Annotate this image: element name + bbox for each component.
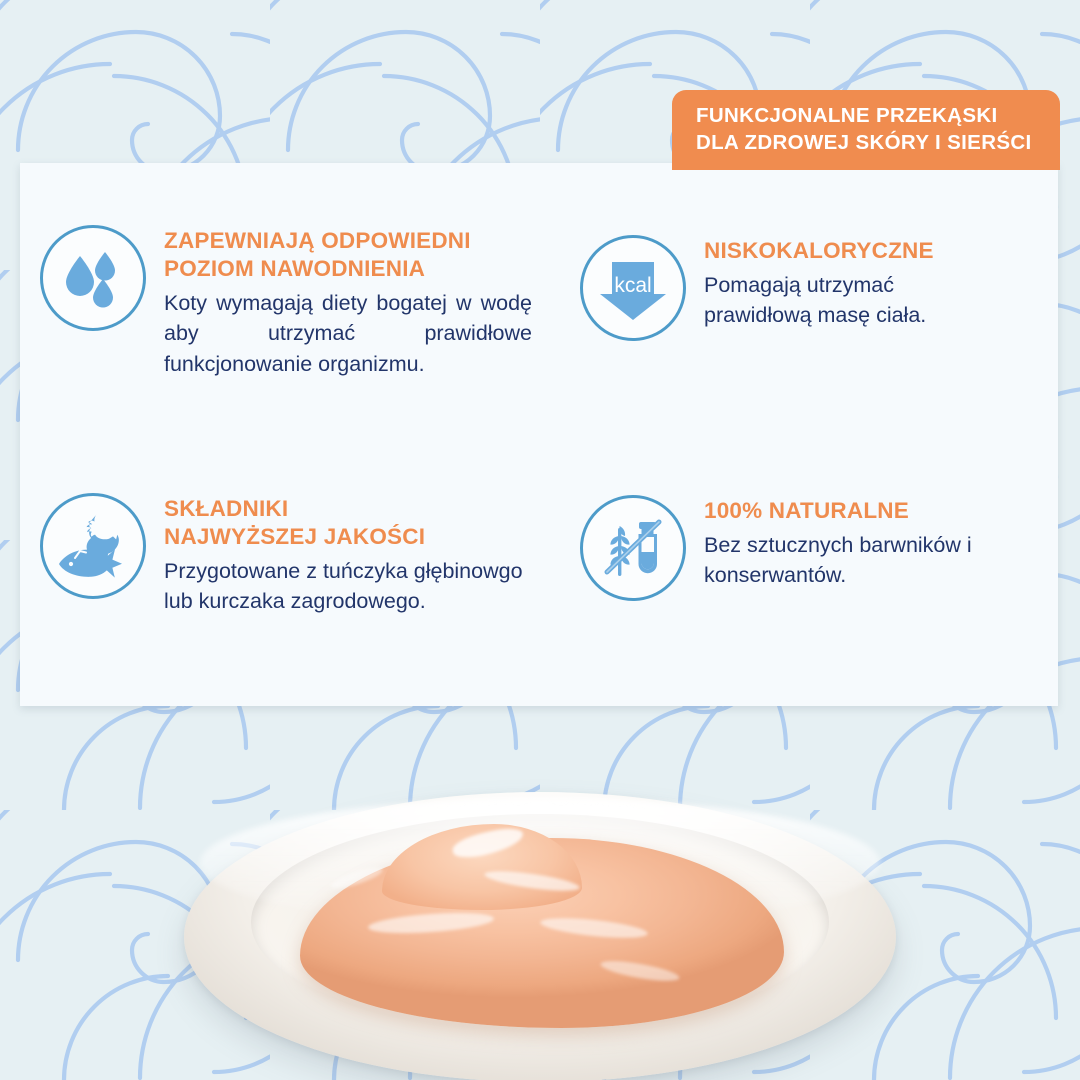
kcal-label: kcal xyxy=(614,274,651,297)
water-drops-icon xyxy=(40,225,146,331)
feature-description: Bez sztucznych barwników i konserwantów. xyxy=(704,530,972,591)
feature-low-calorie: kcal NISKOKALORYCZNE Pomagają utrzymać p… xyxy=(580,235,1050,341)
feature-premium-ingredients: SKŁADNIKI NAJWYŻSZEJ JAKOŚCI Przygotowan… xyxy=(40,493,600,617)
feature-description: Pomagają utrzymać prawidłową masę ciała. xyxy=(704,270,934,331)
feature-text: 100% NATURALNE Bez sztucznych barwników … xyxy=(704,495,972,591)
feature-description: Przygotowane z tuńczyka głębinowgo lub k… xyxy=(164,556,523,617)
feature-hydration: ZAPEWNIAJĄ ODPOWIEDNI POZIOM NAWODNIENIA… xyxy=(40,225,560,379)
banner-line-1: FUNKCJONALNE PRZEKĄSKI xyxy=(696,102,1040,129)
feature-text: ZAPEWNIAJĄ ODPOWIEDNI POZIOM NAWODNIENIA… xyxy=(164,225,532,379)
feature-text: NISKOKALORYCZNE Pomagają utrzymać prawid… xyxy=(704,235,934,331)
rooster-and-tuna-icon xyxy=(40,493,146,599)
infographic-page: ZAPEWNIAJĄ ODPOWIEDNI POZIOM NAWODNIENIA… xyxy=(0,0,1080,1080)
feature-description: Koty wymagają diety bogatej w wodę aby u… xyxy=(164,288,532,380)
feature-title: 100% NATURALNE xyxy=(704,497,972,525)
features-card: ZAPEWNIAJĄ ODPOWIEDNI POZIOM NAWODNIENIA… xyxy=(20,163,1058,706)
feature-natural: 100% NATURALNE Bez sztucznych barwników … xyxy=(580,495,1050,601)
feature-title: SKŁADNIKI NAJWYŻSZEJ JAKOŚCI xyxy=(164,495,523,551)
functional-snacks-banner: FUNKCJONALNE PRZEKĄSKI DLA ZDROWEJ SKÓRY… xyxy=(672,90,1060,170)
kcal-down-arrow-icon: kcal xyxy=(580,235,686,341)
banner-line-2: DLA ZDROWEJ SKÓRY I SIERŚCI xyxy=(696,129,1040,156)
no-wheat-no-additives-icon xyxy=(580,495,686,601)
product-photo-band xyxy=(0,706,1080,1080)
features-grid: ZAPEWNIAJĄ ODPOWIEDNI POZIOM NAWODNIENIA… xyxy=(20,163,1058,706)
feature-text: SKŁADNIKI NAJWYŻSZEJ JAKOŚCI Przygotowan… xyxy=(164,493,523,617)
feature-title: ZAPEWNIAJĄ ODPOWIEDNI POZIOM NAWODNIENIA xyxy=(164,227,532,283)
feature-title: NISKOKALORYCZNE xyxy=(704,237,934,265)
